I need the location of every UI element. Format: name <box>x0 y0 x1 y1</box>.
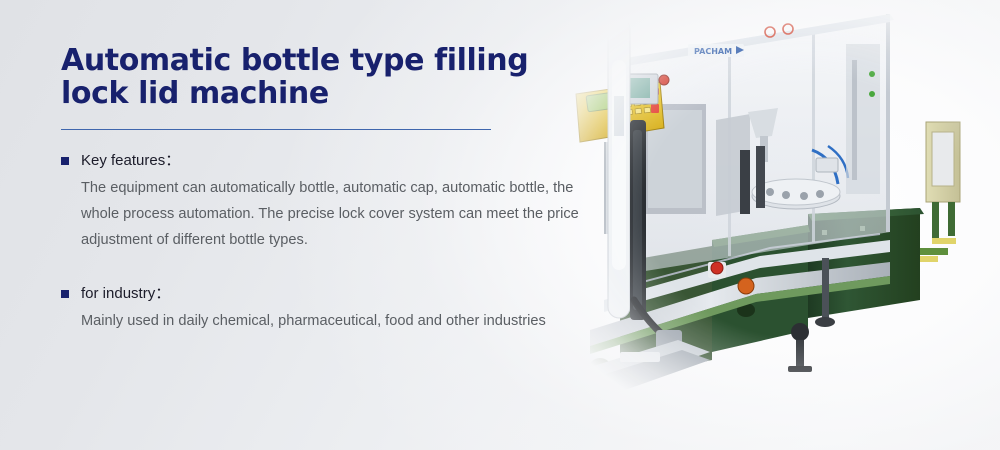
feature-heading-row: Key features： <box>61 151 606 170</box>
square-bullet-icon <box>61 157 69 165</box>
auxiliary-unit <box>916 122 960 262</box>
square-bullet-icon <box>61 290 69 298</box>
copy-column: Automatic bottle type filling lock lid m… <box>61 44 606 334</box>
feature-block-for-industry: for industry： Mainly used in daily chemi… <box>61 284 606 334</box>
feature-heading-label: Key features： <box>81 151 180 170</box>
product-photo: PACHAM <box>560 0 1000 450</box>
feature-heading-label: for industry： <box>81 284 170 303</box>
feature-heading-row: for industry： <box>61 284 606 303</box>
svg-text:PACHAM: PACHAM <box>694 47 732 56</box>
page-title: Automatic bottle type filling lock lid m… <box>61 44 606 110</box>
stop-button-icon <box>651 104 659 113</box>
title-divider <box>61 129 491 130</box>
product-banner: Automatic bottle type filling lock lid m… <box>0 0 1000 450</box>
feature-body-text: Mainly used in daily chemical, pharmaceu… <box>81 308 589 334</box>
feature-block-key-features: Key features： The equipment can automati… <box>61 151 606 253</box>
brand-badge-icon: PACHAM <box>688 44 744 57</box>
feature-body-text: The equipment can automatically bottle, … <box>81 175 596 253</box>
